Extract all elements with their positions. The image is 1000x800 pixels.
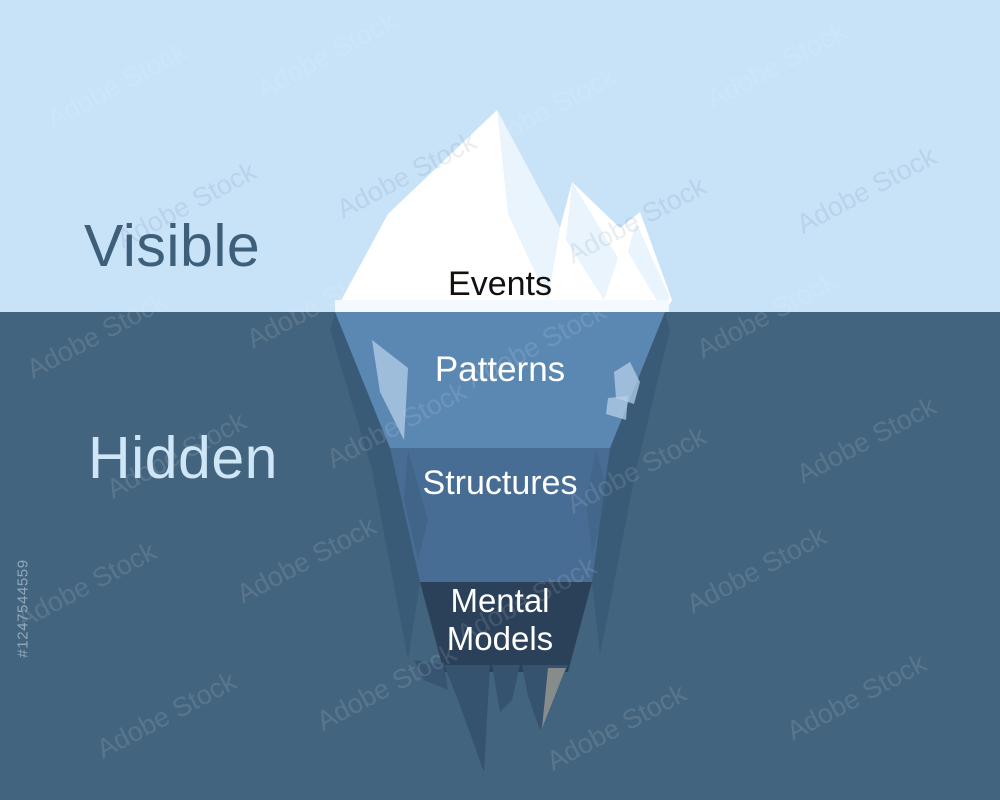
iceberg-diagram-canvas: Adobe Stock Adobe Stock Adobe Stock Adob… bbox=[0, 0, 1000, 800]
layer-label-mental-models: Mental Models bbox=[0, 582, 1000, 658]
layer-label-patterns: Patterns bbox=[0, 350, 1000, 390]
layer-label-structures: Structures bbox=[0, 464, 1000, 503]
layer-label-mental-models-line2: Models bbox=[0, 620, 1000, 658]
layer-label-mental-models-line1: Mental bbox=[450, 582, 549, 619]
layer-label-events: Events bbox=[0, 265, 1000, 304]
iceberg-illustration bbox=[0, 0, 1000, 800]
stock-id-watermark: #1247544559 bbox=[15, 539, 32, 679]
